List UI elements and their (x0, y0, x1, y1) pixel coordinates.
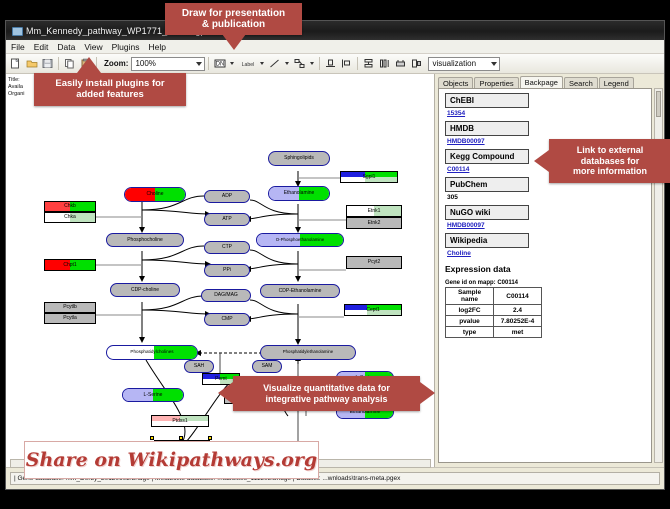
menu-item-edit[interactable]: Edit (30, 42, 53, 52)
node-sgpl1[interactable]: Sgpl1 (340, 171, 398, 183)
node-dagmag[interactable]: DAG/MAG (201, 289, 251, 302)
toolbar-separator-4 (319, 57, 320, 70)
node-choline-top[interactable]: Choline (124, 187, 186, 202)
pathway-meta-availability: Availa (8, 84, 25, 91)
node-cmp[interactable]: CMP (204, 313, 250, 326)
callout-plugins-arrow (77, 57, 101, 73)
node-pcytlb[interactable]: Pcytlb (44, 302, 96, 313)
node-l-serine-left[interactable]: L-Serine (122, 388, 184, 402)
node-ctp[interactable]: CTP (204, 241, 250, 254)
node-pcytla[interactable]: Pcytla (44, 313, 96, 324)
node-label: Chkb (64, 204, 76, 209)
node-label: SAM (262, 364, 273, 369)
node-label: Etnk2 (368, 221, 381, 226)
new-file-icon[interactable] (8, 56, 23, 71)
row-key: pvalue (446, 316, 494, 327)
side-panel: Objects Properties Backpage Search Legen… (435, 74, 664, 467)
group-icon[interactable] (393, 56, 408, 71)
callout-line-3: more information (573, 166, 647, 176)
callout-share: Share on Wikipathways.org (24, 441, 319, 479)
table-row: pvalue 7.80252E-4 (446, 316, 542, 327)
section-value-pubchem: 305 (447, 194, 643, 201)
chevron-down-icon (196, 62, 202, 66)
callout-line-1: Link to external (577, 145, 644, 155)
callout-line-1: Easily install plugins for (55, 79, 164, 90)
toolbar-separator-5 (357, 57, 358, 70)
node-label: Chpt1 (63, 263, 76, 268)
node-pcyt2[interactable]: Pcyt2 (346, 256, 402, 269)
callout-line-1: Draw for presentation (182, 8, 285, 20)
shape-connector-icon[interactable] (292, 56, 307, 71)
pathway-meta-title: Title: (8, 77, 25, 84)
node-label: Ptdss1 (172, 419, 187, 424)
window-controls (598, 21, 664, 40)
align-bottom-icon[interactable] (323, 56, 338, 71)
node-label: CTP (222, 245, 232, 250)
stack-vertical-icon[interactable] (361, 56, 376, 71)
node-phosphatidylcholines[interactable]: Phosphatidylcholines (106, 345, 198, 360)
minimize-button[interactable] (598, 21, 620, 40)
row-value: C00114 (494, 288, 542, 305)
section-link-chebi[interactable]: 15354 (447, 110, 643, 117)
node-label: Pcytlb (63, 305, 77, 310)
node-adp[interactable]: ADP (204, 190, 250, 203)
align-left-icon[interactable] (339, 56, 354, 71)
expression-table: Sample name C00114 log2FC 2.4 pvalue 7.8… (445, 287, 542, 338)
node-ethanolamine[interactable]: Ethanolamine (268, 186, 330, 201)
table-row: Sample name C00114 (446, 288, 542, 305)
toolbar: Zoom: 100% DN Label (6, 54, 664, 74)
row-key: Sample name (446, 288, 494, 305)
node-etnk2[interactable]: Etnk2 (346, 217, 402, 229)
section-header-chebi: ChEBI (445, 93, 529, 108)
section-link-wikipedia[interactable]: Choline (447, 250, 643, 257)
row-value: 7.80252E-4 (494, 316, 542, 327)
node-label: Sphingolipids (284, 156, 314, 161)
callout-links: Link to external databases for more info… (549, 139, 670, 183)
maximize-button[interactable] (620, 21, 642, 40)
callout-line-2: & publication (202, 19, 265, 31)
node-sphingolipids[interactable]: Sphingolipids (268, 151, 330, 166)
callout-visualize-arrow-right (420, 382, 435, 404)
node-label: Phosphocholine (127, 238, 163, 243)
svg-text:DN: DN (216, 62, 225, 68)
row-value: met (494, 327, 542, 338)
label-dropdown-icon[interactable] (260, 62, 264, 65)
callout-links-arrow (534, 150, 549, 172)
callout-draw: Draw for presentation & publication (165, 3, 302, 35)
selection-handle-nw[interactable] (150, 436, 154, 440)
app-icon (11, 25, 22, 36)
callout-visualize-arrow-left (218, 382, 233, 404)
menu-bar: File Edit Data View Plugins Help (6, 40, 664, 54)
visualization-combo[interactable]: visualization (428, 57, 500, 71)
node-phosphatidylethanolamine[interactable]: Phosphatidylethanolamine (260, 345, 356, 360)
node-label: Pcyt2 (368, 260, 381, 265)
node-label: Ethanolamine (284, 191, 315, 196)
save-file-icon[interactable] (40, 56, 55, 71)
node-cept1[interactable]: Cept1 (344, 304, 402, 316)
node-chkb[interactable]: Chkb (44, 201, 96, 212)
pathvisio-window: Mm_Kennedy_pathway_WP1771_45176.gpml Fil… (5, 20, 665, 490)
callout-share-text: Share on Wikipathways.org (26, 449, 317, 471)
label-icon[interactable]: Label (237, 56, 257, 71)
row-key: log2FC (446, 305, 494, 316)
copy-icon[interactable] (62, 56, 77, 71)
datanode-dropdown-icon[interactable] (230, 62, 234, 65)
node-label: Phosphatidylethanolamine (283, 350, 333, 354)
node-atp[interactable]: ATP (204, 213, 250, 226)
node-sah[interactable]: SAH (184, 360, 214, 373)
menu-item-data[interactable]: Data (53, 42, 79, 52)
node-o-phosphoethanolamine[interactable]: O-Phosphoethanolamine (256, 233, 344, 247)
callout-draw-arrow (222, 34, 246, 50)
node-phosphocholine[interactable]: Phosphocholine (106, 233, 184, 247)
visualization-value: visualization (432, 59, 476, 68)
section-link-nugo-wiki[interactable]: HMDB00097 (447, 222, 643, 229)
node-label: ATP (222, 217, 231, 222)
node-label: Cept1 (366, 308, 379, 313)
toolbar-separator-1 (58, 57, 59, 70)
node-label: ADP (222, 194, 232, 199)
section-header-wikipedia: Wikipedia (445, 233, 529, 248)
open-file-icon[interactable] (24, 56, 39, 71)
zoom-combo[interactable]: 100% (131, 57, 205, 71)
callout-line-2: integrative pathway analysis (265, 394, 387, 404)
callout-line-1: Visualize quantitative data for (263, 383, 390, 393)
gene-id-on-mapp: Gene id on mapp: C00114 (445, 280, 645, 286)
node-ppi[interactable]: PPi (204, 264, 250, 277)
node-sam[interactable]: SAM (252, 360, 282, 373)
node-label: Pemt (215, 377, 227, 382)
title-bar: Mm_Kennedy_pathway_WP1771_45176.gpml (6, 21, 664, 40)
expression-data-title: Expression data (445, 264, 645, 274)
node-label: Pcytla (63, 316, 77, 321)
zoom-label: Zoom: (104, 59, 128, 68)
node-label: L-Serine (144, 393, 163, 398)
scrollbar-thumb[interactable] (656, 91, 661, 117)
menu-item-help[interactable]: Help (145, 42, 170, 52)
callout-line-2: added features (76, 90, 144, 101)
table-row: log2FC 2.4 (446, 305, 542, 316)
node-label: SAH (194, 364, 204, 369)
node-label: CMP (221, 317, 232, 322)
section-header-kegg-compound: Kegg Compound (445, 149, 529, 164)
node-label: Etnk1 (368, 209, 381, 214)
node-chpt1[interactable]: Chpt1 (44, 259, 96, 271)
order-icon[interactable] (409, 56, 424, 71)
node-label: PPi (223, 268, 231, 273)
node-cdp-ethanolamine[interactable]: CDP-Ethanolamine (260, 284, 340, 298)
section-header-hmdb: HMDB (445, 121, 529, 136)
chevron-down-icon (491, 62, 497, 66)
node-etnk1[interactable]: Etnk1 (346, 205, 402, 217)
node-label: Chka (64, 215, 76, 220)
line-dropdown-icon[interactable] (285, 62, 289, 65)
node-chka[interactable]: Chka (44, 212, 96, 223)
distribute-icon[interactable] (377, 56, 392, 71)
node-cdp-choline[interactable]: CDP-choline (110, 283, 180, 297)
node-label: Sgpl1 (363, 175, 376, 180)
datanode-icon[interactable]: DN (212, 56, 227, 71)
selection-handle-n[interactable] (179, 436, 183, 440)
menu-item-plugins[interactable]: Plugins (108, 42, 144, 52)
node-label: Phosphatidylcholines (130, 350, 173, 355)
section-header-nugo-wiki: NuGO wiki (445, 205, 529, 220)
section-header-pubchem: PubChem (445, 177, 529, 192)
svg-text:Label: Label (242, 62, 255, 68)
pathway-metadata: Title: Availa Organi (8, 77, 25, 98)
pathway-meta-organism: Organi (8, 91, 25, 98)
callout-line-2: databases for (581, 156, 640, 166)
node-label: Choline (147, 192, 164, 197)
close-button[interactable] (642, 21, 664, 40)
row-key: type (446, 327, 494, 338)
node-label: CDP-Ethanolamine (279, 289, 322, 294)
line-icon[interactable] (267, 56, 282, 71)
menu-item-view[interactable]: View (80, 42, 106, 52)
zoom-value: 100% (135, 59, 155, 68)
row-value: 2.4 (494, 305, 542, 316)
table-row: type met (446, 327, 542, 338)
shape-dropdown-icon[interactable] (310, 62, 314, 65)
selection-handle-ne[interactable] (208, 436, 212, 440)
menu-item-file[interactable]: File (7, 42, 29, 52)
node-label: DAG/MAG (214, 293, 238, 298)
callout-visualize: Visualize quantitative data for integrat… (233, 376, 420, 411)
node-label: O-Phosphoethanolamine (276, 238, 325, 242)
callout-plugins: Easily install plugins for added feature… (34, 73, 186, 106)
toolbar-separator-3 (208, 57, 209, 70)
node-label: CDP-choline (131, 288, 159, 293)
node-ptdss1[interactable]: Ptdss1 (151, 415, 209, 427)
